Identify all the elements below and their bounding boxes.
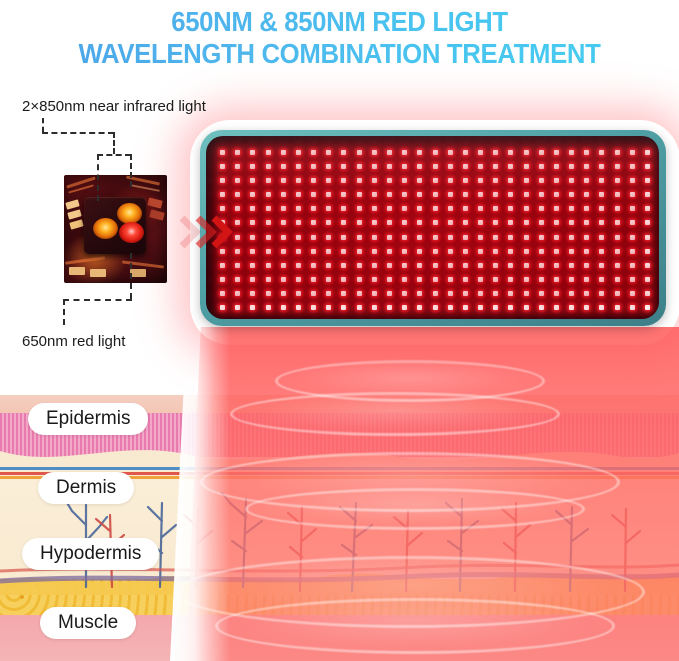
led-dot [645, 263, 650, 268]
led-dot [266, 263, 271, 268]
led-dot [266, 277, 271, 282]
led-dot [235, 164, 240, 169]
led-dot [599, 305, 604, 310]
led-dot [569, 291, 574, 296]
led-dot [645, 206, 650, 211]
led-dot [463, 178, 468, 183]
led-dot [433, 277, 438, 282]
led-dot [220, 305, 225, 310]
led-dot [508, 291, 513, 296]
led-dot [433, 305, 438, 310]
led-dot [645, 178, 650, 183]
led-dot [250, 192, 255, 197]
led-dot [402, 291, 407, 296]
led-dot [235, 263, 240, 268]
led-dot [250, 206, 255, 211]
led-dot [539, 192, 544, 197]
led-dot [220, 192, 225, 197]
led-dot [508, 206, 513, 211]
led-dot [630, 164, 635, 169]
led-dot [539, 178, 544, 183]
led-dot [508, 277, 513, 282]
led-dot [599, 291, 604, 296]
led-dot [341, 164, 346, 169]
led-dot [615, 150, 620, 155]
leader-line-ir-stub [42, 118, 44, 132]
led-dot [448, 150, 453, 155]
led-dot [281, 178, 286, 183]
led-dot [296, 305, 301, 310]
led-dot [584, 220, 589, 225]
led-dot [630, 235, 635, 240]
led-dot [615, 277, 620, 282]
led-dot [433, 235, 438, 240]
led-dot [402, 178, 407, 183]
led-dot [235, 192, 240, 197]
led-dot [266, 235, 271, 240]
led-dot [326, 235, 331, 240]
led-dot [372, 220, 377, 225]
led-dot [250, 164, 255, 169]
led-dot [508, 305, 513, 310]
led-dot [372, 164, 377, 169]
led-dot [599, 235, 604, 240]
led-dot [402, 249, 407, 254]
led-dot [508, 249, 513, 254]
led-dot [433, 178, 438, 183]
led-dot [250, 235, 255, 240]
led-dot [387, 249, 392, 254]
led-dot [402, 305, 407, 310]
led-dot [296, 277, 301, 282]
led-dot [372, 206, 377, 211]
led-dot [569, 263, 574, 268]
led-dot [645, 305, 650, 310]
led-dot [357, 178, 362, 183]
led-dot [630, 206, 635, 211]
led-dot [341, 277, 346, 282]
led-dot [615, 192, 620, 197]
leader-line-red-drop [63, 299, 65, 325]
led-dot [554, 164, 559, 169]
led-dot [402, 235, 407, 240]
led-dot [524, 206, 529, 211]
led-dot [326, 249, 331, 254]
led-dot [569, 249, 574, 254]
led-dot [493, 206, 498, 211]
led-dot [281, 263, 286, 268]
led-dot [554, 192, 559, 197]
led-dot [554, 220, 559, 225]
led-dot [417, 150, 422, 155]
led-dot [266, 305, 271, 310]
led-dot [357, 263, 362, 268]
infrared-emitter-2-850nm [117, 203, 142, 224]
led-dot [524, 178, 529, 183]
led-dot [250, 220, 255, 225]
led-dot [599, 206, 604, 211]
layer-label-epidermis: Epidermis [28, 403, 148, 435]
led-dot [478, 206, 483, 211]
led-dot [372, 249, 377, 254]
led-dot [357, 291, 362, 296]
led-dot [250, 277, 255, 282]
led-dot [357, 249, 362, 254]
led-dot [281, 235, 286, 240]
led-dot [539, 277, 544, 282]
led-dot [372, 235, 377, 240]
led-dot [554, 305, 559, 310]
led-dot [341, 150, 346, 155]
leader-line-ir-branch [97, 154, 131, 156]
red-light-therapy-panel[interactable] [200, 130, 666, 326]
led-dot [554, 150, 559, 155]
led-dot [235, 178, 240, 183]
led-dot [266, 291, 271, 296]
led-dot [539, 206, 544, 211]
led-dot [463, 249, 468, 254]
led-dot [296, 263, 301, 268]
led-dot [478, 220, 483, 225]
led-dot [417, 206, 422, 211]
led-dot [250, 150, 255, 155]
led-dot [463, 235, 468, 240]
led-dot [569, 206, 574, 211]
led-dot [645, 220, 650, 225]
led-dot [599, 277, 604, 282]
led-dot [630, 150, 635, 155]
led-dot [281, 277, 286, 282]
led-dot [463, 150, 468, 155]
led-dot [341, 192, 346, 197]
led-dot [539, 235, 544, 240]
led-dot [326, 220, 331, 225]
led-dot [220, 206, 225, 211]
led-dot [554, 178, 559, 183]
led-dot [584, 277, 589, 282]
led-dot [508, 235, 513, 240]
led-dot [220, 291, 225, 296]
led-dot [357, 235, 362, 240]
led-dot [463, 277, 468, 282]
led-dot [584, 178, 589, 183]
led-dot [508, 192, 513, 197]
led-dot [599, 178, 604, 183]
led-dot [630, 277, 635, 282]
led-dot [433, 164, 438, 169]
led-dot [493, 220, 498, 225]
led-dot [508, 164, 513, 169]
led-dot [554, 235, 559, 240]
led-dot [493, 277, 498, 282]
led-dot [524, 291, 529, 296]
led-dot [311, 178, 316, 183]
callout-label-red: 650nm red light [22, 333, 125, 350]
led-dot [448, 305, 453, 310]
led-dot [463, 192, 468, 197]
led-dot [372, 305, 377, 310]
led-dot [463, 305, 468, 310]
led-dot [599, 164, 604, 169]
led-dot [281, 164, 286, 169]
led-dot [402, 220, 407, 225]
led-dot [478, 277, 483, 282]
layer-label-muscle: Muscle [40, 607, 136, 639]
led-dot [417, 192, 422, 197]
led-dot [645, 277, 650, 282]
led-dot [433, 220, 438, 225]
led-dot [387, 164, 392, 169]
led-dot [599, 263, 604, 268]
led-dot [569, 235, 574, 240]
led-dot [584, 164, 589, 169]
led-dot [524, 235, 529, 240]
led-dot [266, 249, 271, 254]
chevron-right-icon [180, 212, 240, 252]
led-dot [554, 277, 559, 282]
led-dot [615, 206, 620, 211]
led-dot [387, 235, 392, 240]
led-dot [645, 249, 650, 254]
led-dot [266, 178, 271, 183]
infographic-canvas: 650NM & 850NM RED LIGHT WAVELENGTH COMBI… [0, 0, 679, 661]
led-dot [341, 178, 346, 183]
led-dot [448, 164, 453, 169]
led-dot [220, 277, 225, 282]
led-dot [387, 305, 392, 310]
led-dot [539, 150, 544, 155]
led-dot [296, 178, 301, 183]
led-dot [311, 249, 316, 254]
led-dot [417, 277, 422, 282]
led-dot [220, 178, 225, 183]
led-dot [524, 249, 529, 254]
layer-label-hypodermis: Hypodermis [22, 538, 159, 570]
led-dot [645, 164, 650, 169]
layer-label-dermis: Dermis [38, 472, 134, 504]
led-dot [417, 164, 422, 169]
led-dot [235, 150, 240, 155]
led-dot [235, 277, 240, 282]
led-dot [508, 220, 513, 225]
led-dot [296, 164, 301, 169]
led-dot [387, 192, 392, 197]
led-dot [281, 206, 286, 211]
led-dot [539, 249, 544, 254]
led-dot [311, 150, 316, 155]
led-dot [433, 206, 438, 211]
led-dot [539, 164, 544, 169]
led-dot [417, 220, 422, 225]
led-dot [448, 220, 453, 225]
led-dot [281, 305, 286, 310]
led-dot [630, 220, 635, 225]
led-dot [417, 263, 422, 268]
led-dot [524, 192, 529, 197]
led-dot [220, 263, 225, 268]
led-dot [402, 277, 407, 282]
led-dot [417, 249, 422, 254]
led-dot [250, 178, 255, 183]
led-dot [493, 192, 498, 197]
led-dot [250, 249, 255, 254]
led-dot [630, 291, 635, 296]
led-dot [524, 263, 529, 268]
led-dot [372, 178, 377, 183]
led-dot [448, 192, 453, 197]
led-dot [357, 164, 362, 169]
leader-line-red-horiz [63, 299, 132, 301]
led-dot [296, 220, 301, 225]
flow-arrow-chevrons [180, 212, 240, 252]
leader-line-red-up [130, 253, 132, 299]
led-dot [584, 249, 589, 254]
page-title: 650NM & 850NM RED LIGHT WAVELENGTH COMBI… [0, 2, 679, 72]
led-dot [417, 291, 422, 296]
led-dot [311, 235, 316, 240]
led-dot [645, 150, 650, 155]
led-dot [281, 150, 286, 155]
led-dot [220, 150, 225, 155]
led-dot [448, 249, 453, 254]
led-dot [615, 249, 620, 254]
leader-line-ir-horiz [42, 132, 114, 134]
leader-line-ir-drop [113, 132, 115, 154]
led-dot [372, 263, 377, 268]
led-dot [341, 305, 346, 310]
led-dot [281, 249, 286, 254]
led-dot [615, 305, 620, 310]
led-dot [615, 178, 620, 183]
chip-circuit-board [64, 175, 167, 283]
led-dot [402, 150, 407, 155]
led-dot [433, 249, 438, 254]
led-dot [569, 220, 574, 225]
led-dot [524, 305, 529, 310]
led-dot [493, 249, 498, 254]
led-dot [372, 277, 377, 282]
led-dot [372, 291, 377, 296]
led-dot [266, 164, 271, 169]
led-dot [326, 291, 331, 296]
led-dot [524, 277, 529, 282]
led-dot [599, 220, 604, 225]
led-dot [569, 150, 574, 155]
led-dot [326, 150, 331, 155]
led-dot [387, 206, 392, 211]
led-dot [387, 291, 392, 296]
led-dot [630, 192, 635, 197]
led-dot [569, 277, 574, 282]
led-dot [493, 178, 498, 183]
led-dot [463, 220, 468, 225]
led-dot [296, 150, 301, 155]
led-dot [645, 291, 650, 296]
led-dot [266, 206, 271, 211]
led-dot [584, 291, 589, 296]
led-dot [266, 150, 271, 155]
led-dot [599, 150, 604, 155]
led-dot [569, 178, 574, 183]
led-dot [296, 235, 301, 240]
led-dot [326, 206, 331, 211]
led-dot [630, 178, 635, 183]
led-dot [387, 220, 392, 225]
led-dot [463, 164, 468, 169]
led-dot [387, 178, 392, 183]
led-dot [630, 263, 635, 268]
led-dot [372, 150, 377, 155]
led-dot [402, 192, 407, 197]
led-dot [584, 206, 589, 211]
led-dot [448, 206, 453, 211]
led-dot [250, 291, 255, 296]
callout-label-infrared: 2×850nm near infrared light [22, 98, 206, 115]
led-dot [478, 249, 483, 254]
led-dot [524, 220, 529, 225]
led-dot [220, 164, 225, 169]
led-dot [463, 206, 468, 211]
led-dot [235, 305, 240, 310]
led-dot [326, 305, 331, 310]
led-dot [341, 249, 346, 254]
led-dot [478, 164, 483, 169]
title-line-2: WAVELENGTH COMBINATION TREATMENT [27, 38, 652, 70]
led-dot [266, 220, 271, 225]
led-dot [326, 178, 331, 183]
led-dot [584, 305, 589, 310]
led-dot [493, 305, 498, 310]
panel-led-surface [206, 136, 659, 319]
led-dot [478, 291, 483, 296]
led-dot [433, 291, 438, 296]
led-dot [478, 178, 483, 183]
led-dot [326, 277, 331, 282]
led-dot [630, 249, 635, 254]
led-dot [326, 164, 331, 169]
led-dot [341, 263, 346, 268]
led-dot [645, 235, 650, 240]
led-dot [250, 305, 255, 310]
led-dot [524, 164, 529, 169]
leader-line-ir-left [97, 154, 99, 201]
led-dot [630, 305, 635, 310]
led-dot [615, 220, 620, 225]
led-dot [402, 263, 407, 268]
led-dot [554, 249, 559, 254]
led-dot [417, 235, 422, 240]
led-dot [478, 263, 483, 268]
led-dot [493, 263, 498, 268]
led-dot [554, 291, 559, 296]
led-dot [524, 150, 529, 155]
led-dot [478, 150, 483, 155]
led-dot [493, 291, 498, 296]
led-dot [250, 263, 255, 268]
led-dot [357, 277, 362, 282]
led-dot [341, 235, 346, 240]
led-dot [584, 150, 589, 155]
led-dot [508, 150, 513, 155]
led-dot [584, 263, 589, 268]
led-dot [569, 164, 574, 169]
led-dot [615, 291, 620, 296]
led-dot [357, 150, 362, 155]
led-dot [463, 263, 468, 268]
led-dot [554, 206, 559, 211]
led-dot [433, 150, 438, 155]
led-dot [235, 206, 240, 211]
